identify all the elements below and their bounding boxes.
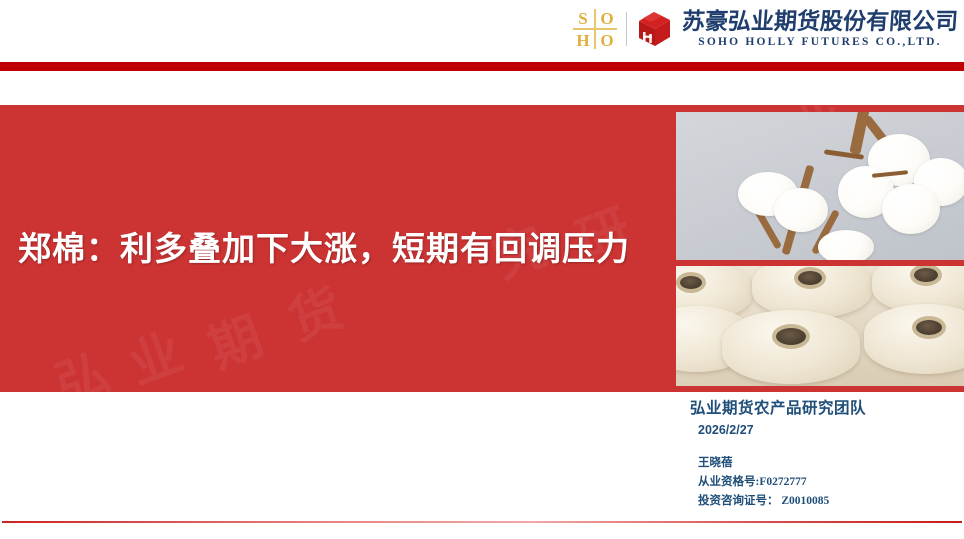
company-name-en: SOHO HOLLY FUTURES CO.,LTD. xyxy=(682,36,958,48)
company-logo: S O H O 苏豪弘业期货股份有限公司 SOHO HOLLY FUTURE xyxy=(572,4,964,54)
header-divider-rule xyxy=(0,62,964,71)
soho-letter-h: H xyxy=(572,30,594,50)
report-date: 2026/2/27 xyxy=(698,423,964,437)
soho-grid-horizontal xyxy=(573,28,617,30)
author-info-block: 弘业期货农产品研究团队 2026/2/27 王晓蓓 从业资格号:F0272777… xyxy=(690,396,964,508)
footer-divider-rule xyxy=(2,521,962,523)
yarn-spools-photo xyxy=(676,266,964,386)
watermark-char-3: 期 xyxy=(197,294,272,382)
soho-mark-icon: S O H O xyxy=(572,8,618,50)
company-name-cn: 苏豪弘业期货股份有限公司 xyxy=(681,10,959,34)
logo-divider xyxy=(626,12,627,46)
presentation-slide: S O H O 苏豪弘业期货股份有限公司 SOHO HOLLY FUTURE xyxy=(0,0,964,539)
cotton-bolls-photo xyxy=(676,112,964,260)
watermark-char-4: 货 xyxy=(277,266,352,354)
red-cube-icon xyxy=(635,9,673,49)
soho-letter-o1: O xyxy=(596,8,618,28)
practice-license-number: 从业资格号:F0272777 xyxy=(698,473,964,489)
soho-letter-o2: O xyxy=(596,30,618,50)
research-team-name: 弘业期货农产品研究团队 xyxy=(690,396,964,418)
author-name: 王晓蓓 xyxy=(698,454,964,470)
watermark-char-1: 弘 xyxy=(44,330,119,392)
consulting-license-number: 投资咨询证号： Z0010085 xyxy=(698,492,964,508)
watermark-char-2: 业 xyxy=(117,310,192,392)
soho-letter-s: S xyxy=(572,8,594,28)
slide-title: 郑棉：利多叠加下大涨，短期有回调压力 xyxy=(18,222,668,270)
